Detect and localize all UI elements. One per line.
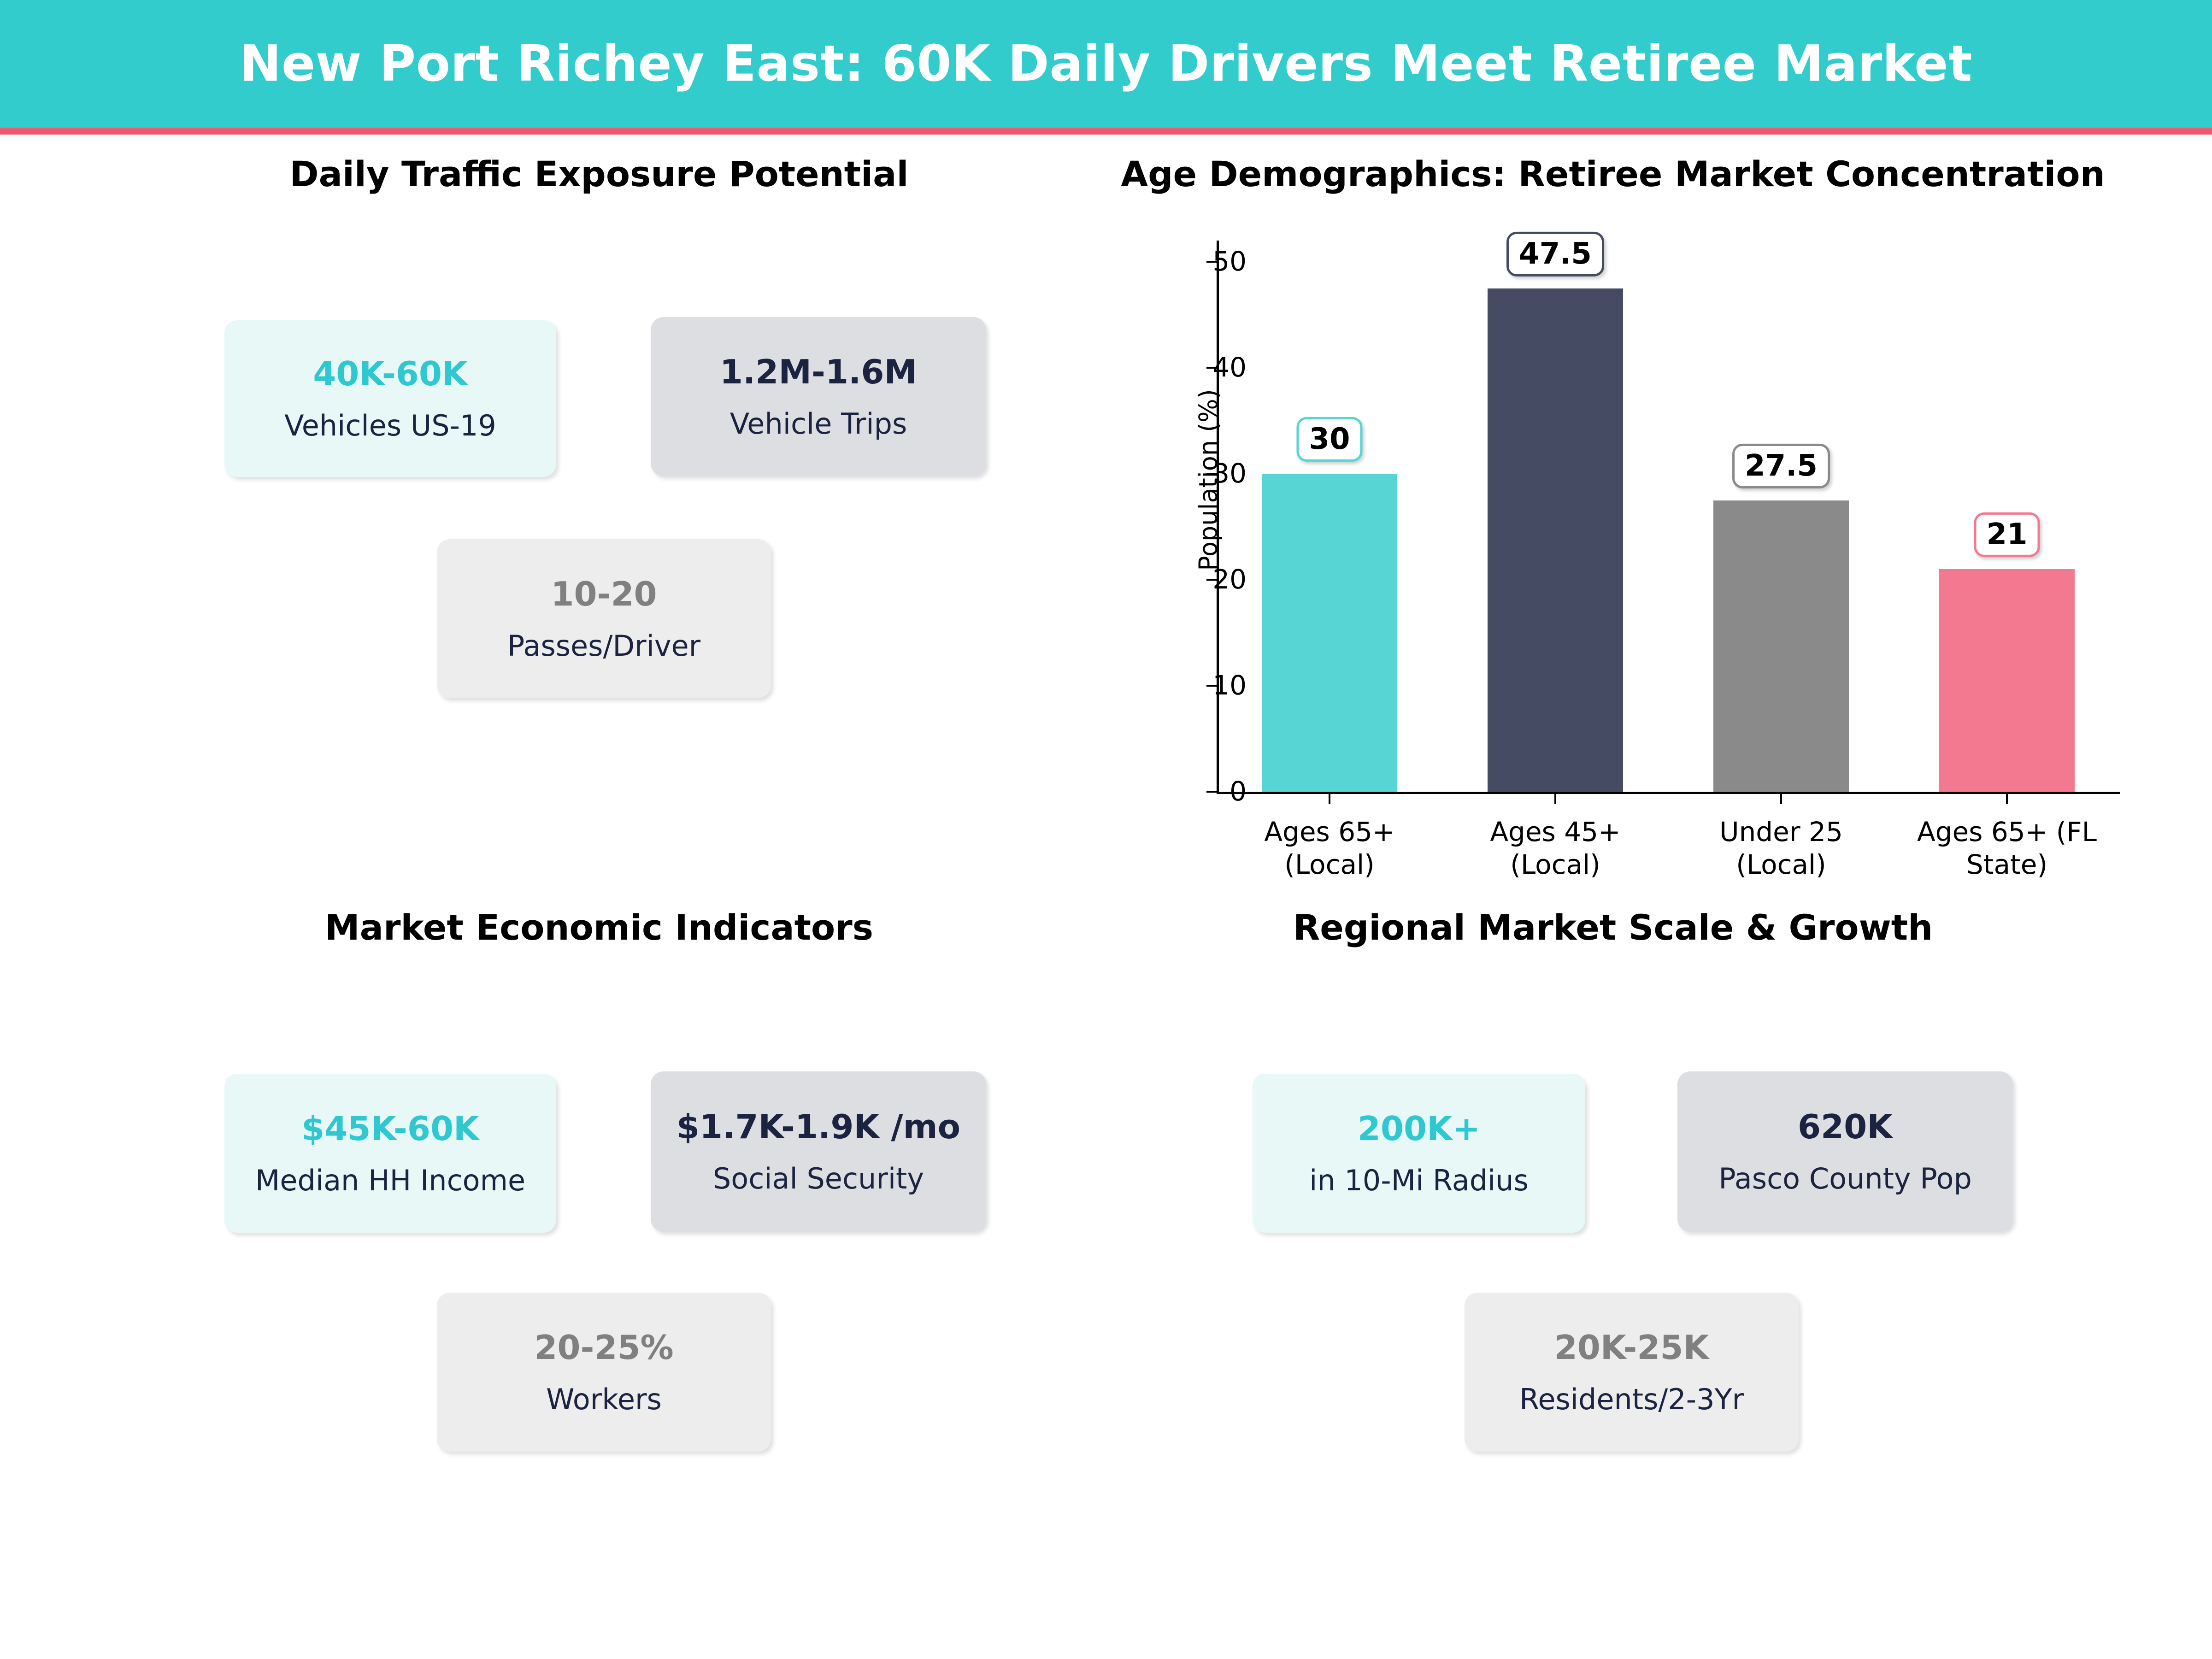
section-title-regional: Regional Market Scale & Growth	[1014, 910, 2212, 945]
kpi-card-vehicle-trips: 1.2M-1.6M Vehicle Trips	[651, 317, 986, 476]
kpi-card-social-security: $1.7K-1.9K /mo Social Security	[651, 1071, 986, 1232]
bar-1	[1262, 474, 1397, 792]
x-axis-category-label: Ages 45+(Local)	[1442, 816, 1668, 881]
y-axis-tick-label: 20	[1108, 566, 1247, 593]
bar-3	[1713, 500, 1849, 792]
y-axis-tick-mark	[1206, 367, 1217, 369]
kpi-label: in 10-Mi Radius	[1309, 1166, 1529, 1195]
x-axis-tick-mark	[1554, 794, 1556, 804]
y-axis-tick-label: 30	[1108, 460, 1247, 487]
kpi-value: $1.7K-1.9K /mo	[677, 1110, 960, 1143]
bar-value-label: 21	[1974, 512, 2040, 557]
kpi-label: Residents/2-3Yr	[1519, 1385, 1744, 1414]
section-title-demographics: Age Demographics: Retiree Market Concent…	[1014, 157, 2212, 192]
header-accent-rule	[0, 128, 2212, 135]
bar-4	[1939, 569, 2075, 792]
kpi-card-passes-per-driver: 10-20 Passes/Driver	[437, 539, 771, 698]
x-axis-tick-mark	[2006, 794, 2008, 804]
y-axis-tick-mark	[1206, 791, 1217, 793]
kpi-value: 200K+	[1358, 1112, 1480, 1145]
y-axis-tick-mark	[1206, 579, 1217, 581]
kpi-value: 40K-60K	[313, 357, 468, 390]
y-axis-tick-label: 10	[1108, 672, 1247, 699]
y-axis-tick-mark	[1206, 473, 1217, 475]
kpi-value: $45K-60K	[301, 1112, 479, 1145]
kpi-card-vehicles-us19: 40K-60K Vehicles US-19	[224, 320, 556, 477]
y-axis-spine	[1217, 241, 1219, 794]
bar-value-label: 27.5	[1732, 443, 1830, 488]
header-banner: New Port Richey East: 60K Daily Drivers …	[0, 0, 2212, 128]
kpi-card-residents-growth: 20K-25K Residents/2-3Yr	[1465, 1293, 1799, 1452]
y-axis-tick-mark	[1206, 261, 1217, 263]
x-axis-tick-mark	[1329, 794, 1330, 804]
kpi-label: Vehicles US-19	[284, 412, 496, 440]
kpi-value: 620K	[1798, 1110, 1893, 1143]
bar-2	[1488, 288, 1623, 792]
kpi-value: 20-25%	[534, 1331, 673, 1364]
kpi-label: Pasco County Pop	[1718, 1165, 1972, 1193]
kpi-value: 1.2M-1.6M	[720, 355, 917, 388]
kpi-label: Workers	[546, 1385, 662, 1414]
y-axis-tick-label: 50	[1108, 248, 1247, 275]
x-axis-category-label: Ages 65+ (FLState)	[1894, 816, 2120, 881]
x-axis-category-label: Under 25(Local)	[1668, 816, 1894, 881]
kpi-label: Passes/Driver	[507, 632, 700, 660]
x-axis-tick-mark	[1780, 794, 1782, 804]
y-axis-tick-label: 40	[1108, 354, 1247, 381]
kpi-card-pasco-county-pop: 620K Pasco County Pop	[1677, 1071, 2013, 1232]
kpi-label: Median HH Income	[255, 1166, 525, 1195]
kpi-label: Social Security	[713, 1165, 924, 1193]
kpi-card-10mi-radius: 200K+ in 10-Mi Radius	[1253, 1074, 1585, 1233]
kpi-value: 10-20	[551, 577, 657, 611]
kpi-label: Vehicle Trips	[730, 410, 907, 438]
x-axis-category-label: Ages 65+(Local)	[1217, 816, 1442, 881]
x-axis-spine	[1217, 792, 2120, 794]
kpi-card-workers: 20-25% Workers	[437, 1293, 771, 1452]
y-axis-tick-mark	[1206, 685, 1217, 687]
age-demographics-bar-chart: Population (%) 01020304050 3047.527.521 …	[1106, 207, 2166, 876]
kpi-value: 20K-25K	[1554, 1331, 1709, 1364]
kpi-card-median-hh-income: $45K-60K Median HH Income	[224, 1074, 556, 1233]
y-axis-tick-label: 0	[1108, 778, 1247, 805]
bar-value-label: 30	[1296, 417, 1362, 462]
bar-value-label: 47.5	[1506, 231, 1604, 276]
page-title: New Port Richey East: 60K Daily Drivers …	[240, 39, 1972, 89]
